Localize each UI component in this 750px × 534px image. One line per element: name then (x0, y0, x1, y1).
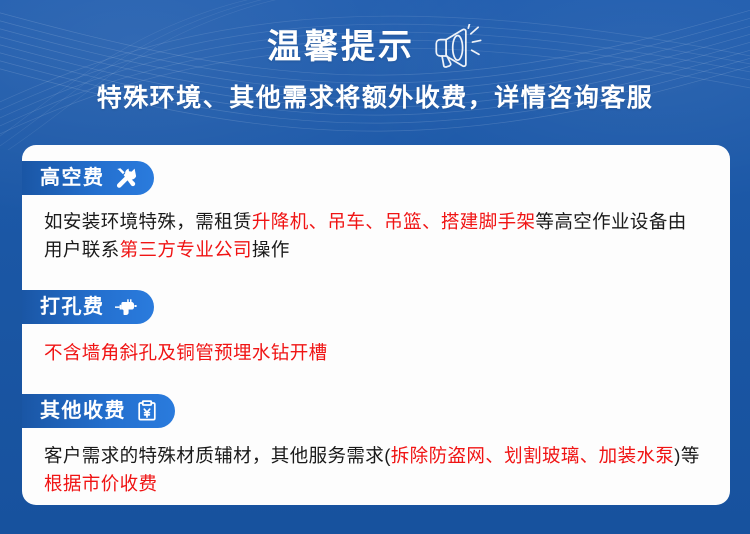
text-run: 客户需求的特殊材质辅材，其他服务需求( (44, 445, 391, 466)
text-run: )等 (674, 445, 699, 466)
section-body-drilling-fee: 不含墙角斜孔及铜管预埋水钻开槽 (22, 324, 730, 367)
section-aerial-fee: 高空费 如安装环境特殊，需租赁升降机、吊车、吊篮、搭建脚手架等高空作业设备由用户… (22, 145, 730, 264)
text-run-highlight: 拆除防盗网、划割玻璃、加装水泵 (391, 445, 675, 466)
notice-card-panel: 高空费 如安装环境特殊，需租赁升降机、吊车、吊篮、搭建脚手架等高空作业设备由用户… (22, 145, 730, 505)
section-other-fee: 其他收费 客户需求的特殊材质辅材，其他服务需求(拆除防盗网、划割玻璃、加装水泵)… (22, 367, 730, 498)
badge-label: 打孔费 (40, 297, 105, 317)
tools-icon (114, 166, 138, 190)
promo-notice-page: 温馨提示 特殊环境、其他需求将额外收费，详情咨询客服 高空费 (0, 0, 750, 534)
badge-other-fee: 其他收费 (22, 394, 175, 428)
section-body-other-fee: 客户需求的特殊材质辅材，其他服务需求(拆除防盗网、划割玻璃、加装水泵)等根据市价… (22, 428, 730, 498)
text-run-highlight: 升降机、吊车、吊篮、搭建脚手架 (252, 211, 536, 232)
megaphone-icon (429, 24, 483, 70)
badge-label: 高空费 (40, 168, 105, 188)
section-body-aerial-fee: 如安装环境特殊，需租赁升降机、吊车、吊篮、搭建脚手架等高空作业设备由用户联系第三… (22, 195, 730, 264)
text-run-highlight: 不含墙角斜孔及铜管预埋水钻开槽 (44, 342, 328, 363)
page-subtitle: 特殊环境、其他需求将额外收费，详情咨询客服 (0, 86, 750, 111)
page-header: 温馨提示 特殊环境、其他需求将额外收费，详情咨询客服 (0, 0, 750, 111)
badge-label: 其他收费 (40, 401, 126, 421)
page-title: 温馨提示 (267, 30, 415, 64)
header-title-row: 温馨提示 (0, 22, 750, 72)
drill-icon (114, 295, 138, 319)
section-drilling-fee: 打孔费 不含墙角斜孔及铜管预埋水钻开槽 (22, 264, 730, 367)
text-run-highlight: 第三方专业公司 (120, 239, 252, 260)
clipboard-yuan-icon (135, 399, 159, 423)
text-run: 如安装环境特殊，需租赁 (44, 211, 252, 232)
badge-drilling-fee: 打孔费 (22, 290, 154, 324)
text-run: 操作 (252, 239, 290, 260)
text-run-highlight: 根据市价收费 (44, 473, 157, 494)
badge-aerial-fee: 高空费 (22, 161, 154, 195)
